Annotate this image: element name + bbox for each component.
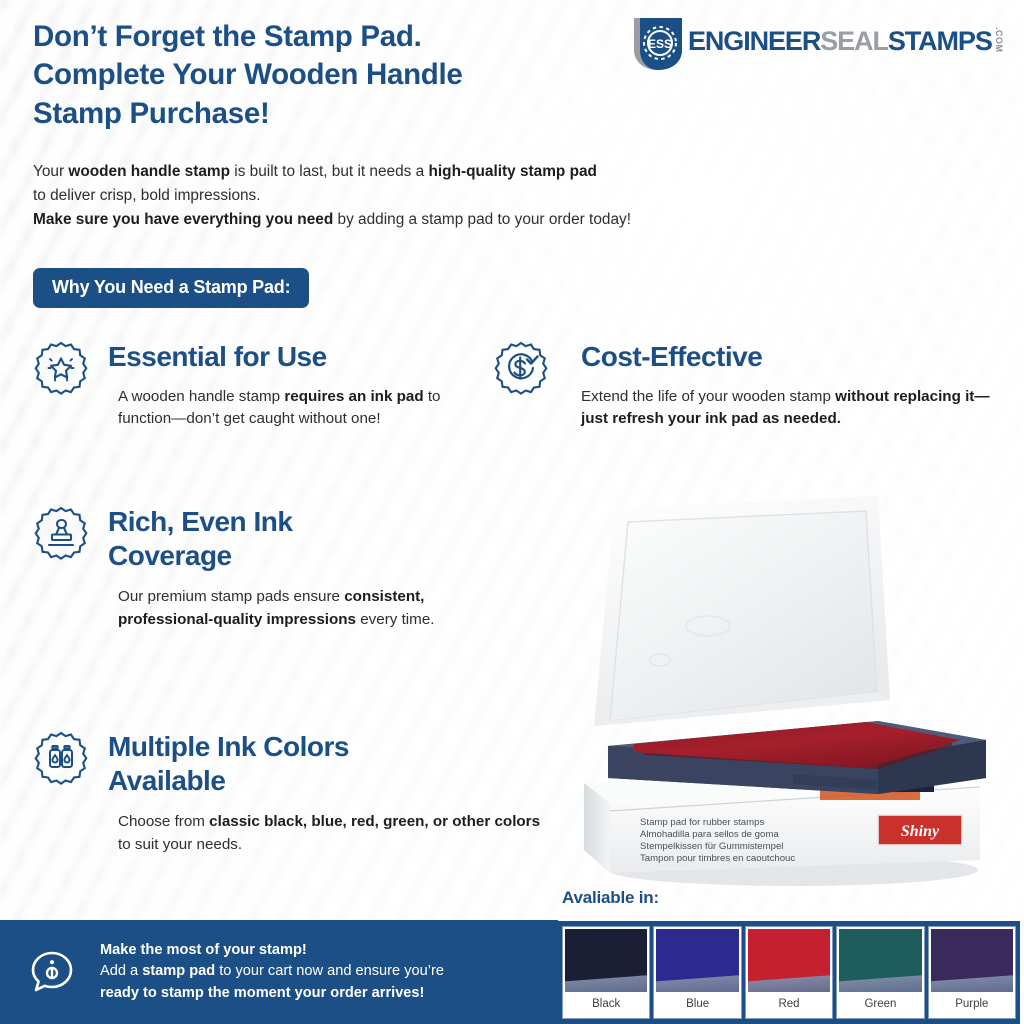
brand-word-engineer: ENGINEER xyxy=(688,26,820,57)
svg-text:ESS: ESS xyxy=(648,37,672,51)
swatch-label: Green xyxy=(839,992,921,1016)
footer-line-3: ready to stamp the moment your order arr… xyxy=(100,983,444,1004)
shiny-brand-badge: Shiny xyxy=(878,815,962,845)
page-title: Don’t Forget the Stamp Pad. Complete You… xyxy=(33,18,693,133)
brand-tld: .COM xyxy=(994,27,1003,53)
brand-logo[interactable]: ESS ENGINEERSEALSTAMPS.COM xyxy=(630,16,1016,72)
intro-l3b: by adding a stamp pad to your order toda… xyxy=(333,211,631,228)
available-in-label: Avaliable in: xyxy=(562,888,659,908)
benefit-body-a: A wooden handle stamp xyxy=(118,388,284,405)
benefit-body: Choose from classic black, blue, red, gr… xyxy=(118,811,553,856)
box-line-4: Tampon pour timbres en caoutchouc xyxy=(640,853,795,864)
box-line-3: Stempelkissen für Gummistempel xyxy=(640,841,783,852)
info-bubble-icon xyxy=(28,948,76,996)
badge-dollar-check-icon xyxy=(493,340,549,396)
benefit-body-a: Choose from xyxy=(118,813,209,830)
brand-wordmark: ENGINEERSEALSTAMPS.COM xyxy=(688,26,1003,57)
benefit-title: Multiple Ink Colors Available xyxy=(108,730,553,797)
swatch-color-green xyxy=(839,929,921,992)
footer-cta-bar: Make the most of your stamp! Add a stamp… xyxy=(0,920,558,1024)
benefit-body-a: Our premium stamp pads ensure xyxy=(118,588,344,605)
swatch-label: Black xyxy=(565,992,647,1016)
badge-star-icon xyxy=(33,340,89,396)
intro-l1d: high-quality stamp pad xyxy=(428,163,596,180)
benefit-title: Essential for Use xyxy=(108,340,493,374)
benefit-body: A wooden handle stamp requires an ink pa… xyxy=(118,386,493,431)
infographic-page: Don’t Forget the Stamp Pad. Complete You… xyxy=(0,0,1024,1024)
intro-l3a: Make sure you have everything you need xyxy=(33,211,333,228)
section-banner: Why You Need a Stamp Pad: xyxy=(33,268,309,308)
benefit-body-b: requires an ink pad xyxy=(284,388,423,405)
benefit-body-c: to suit your needs. xyxy=(118,836,242,853)
swatch-label: Blue xyxy=(656,992,738,1016)
benefit-cost-effective: Cost-Effective Extend the life of your w… xyxy=(493,340,1013,431)
intro-line-1: Your wooden handle stamp is built to las… xyxy=(33,160,913,184)
footer-l2b: stamp pad xyxy=(142,963,215,979)
footer-l2c: to your cart now and ensure you’re xyxy=(215,963,444,979)
swatch-black[interactable]: Black xyxy=(563,927,649,1018)
footer-line-1: Make the most of your stamp! xyxy=(100,940,444,961)
badge-stamp-icon xyxy=(33,505,89,561)
benefit-body-b: classic black, blue, red, green, or othe… xyxy=(209,813,540,830)
footer-cta-text: Make the most of your stamp! Add a stamp… xyxy=(100,940,444,1004)
swatch-red[interactable]: Red xyxy=(746,927,832,1018)
swatch-blue[interactable]: Blue xyxy=(654,927,740,1018)
benefit-multiple-ink-colors: Multiple Ink Colors Available Choose fro… xyxy=(33,730,553,856)
swatch-color-blue xyxy=(656,929,738,992)
svg-text:Shiny: Shiny xyxy=(901,823,940,840)
benefit-title: Rich, Even Ink Coverage xyxy=(108,505,493,572)
stamp-pad-lid xyxy=(594,496,890,726)
intro-line-3: Make sure you have everything you need b… xyxy=(33,208,913,232)
footer-l2a: Add a xyxy=(100,963,142,979)
ess-shield-icon: ESS xyxy=(630,16,686,72)
swatch-color-red xyxy=(748,929,830,992)
swatch-label: Purple xyxy=(931,992,1013,1016)
benefit-essential-for-use: Essential for Use A wooden handle stamp … xyxy=(33,340,493,431)
benefit-body-a: Extend the life of your wooden stamp xyxy=(581,388,835,405)
footer-line-2: Add a stamp pad to your cart now and ens… xyxy=(100,961,444,982)
box-line-2: Almohadilla para sellos de goma xyxy=(640,829,779,840)
header: Don’t Forget the Stamp Pad. Complete You… xyxy=(33,18,693,133)
benefit-rich-even-ink-coverage: Rich, Even Ink Coverage Our premium stam… xyxy=(33,505,493,631)
product-photo-stamp-pad: Stamp pad for rubber stamps Almohadilla … xyxy=(548,478,1018,890)
swatch-purple[interactable]: Purple xyxy=(929,927,1015,1018)
swatch-label: Red xyxy=(748,992,830,1016)
swatch-color-purple xyxy=(931,929,1013,992)
swatch-green[interactable]: Green xyxy=(837,927,923,1018)
brand-word-stamps: STAMPS xyxy=(888,26,992,57)
benefit-body: Our premium stamp pads ensure consistent… xyxy=(118,586,488,631)
ink-color-swatch-row: Black Blue Red Green Purple xyxy=(558,921,1020,1024)
brand-word-seal: SEAL xyxy=(820,26,888,57)
badge-ink-bottles-icon xyxy=(33,730,89,786)
intro-l1a: Your xyxy=(33,163,68,180)
benefit-body: Extend the life of your wooden stamp wit… xyxy=(581,386,1001,431)
box-line-1: Stamp pad for rubber stamps xyxy=(640,817,764,828)
intro-line-2: to deliver crisp, bold impressions. xyxy=(33,184,913,208)
swatch-color-black xyxy=(565,929,647,992)
benefit-body-c: every time. xyxy=(356,611,435,628)
benefit-title: Cost-Effective xyxy=(581,340,1013,374)
intro-l1c: is built to last, but it needs a xyxy=(230,163,428,180)
intro-l1b: wooden handle stamp xyxy=(68,163,230,180)
intro-paragraph: Your wooden handle stamp is built to las… xyxy=(33,160,913,232)
